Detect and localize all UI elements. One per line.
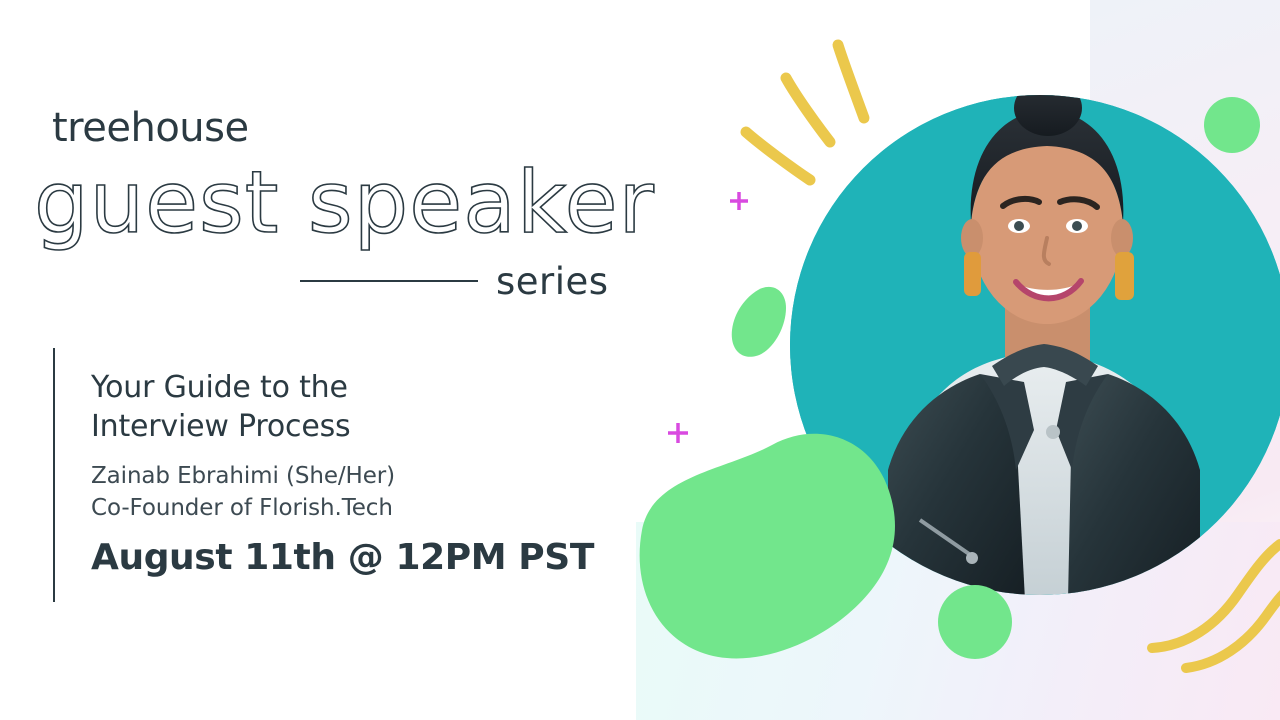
yellow-squiggles <box>1152 544 1280 668</box>
talk-title-line-1: Your Guide to the <box>91 368 611 407</box>
text-column: treehouse guest speaker series Your Guid… <box>0 0 660 720</box>
headline-outline-text: guest speaker <box>34 160 655 246</box>
talk-title-block: Your Guide to the Interview Process <box>91 368 611 446</box>
series-row: series <box>300 256 630 306</box>
magenta-plus-bottom <box>668 423 688 443</box>
artwork-composition <box>620 0 1280 720</box>
talk-title-line-2: Interview Process <box>91 407 611 446</box>
series-divider-rule <box>300 280 478 282</box>
slide-canvas: treehouse guest speaker series Your Guid… <box>0 0 1280 720</box>
speaker-name: Zainab Ebrahimi (She/Her) <box>91 461 611 493</box>
yellow-sunburst-rays <box>746 45 864 180</box>
magenta-plus-top <box>730 192 748 210</box>
brand-wordmark: treehouse <box>52 108 249 148</box>
speaker-block: Zainab Ebrahimi (She/Her) Co-Founder of … <box>91 461 611 524</box>
green-dot <box>938 585 1012 659</box>
vertical-accent-bar <box>53 348 55 602</box>
series-label: series <box>496 263 609 300</box>
green-blob-small <box>732 287 786 357</box>
speaker-role: Co-Founder of Florish.Tech <box>91 493 611 525</box>
green-dot-top <box>1204 97 1260 153</box>
talk-title: Your Guide to the Interview Process <box>91 368 611 446</box>
event-datetime: August 11th @ 12PM PST <box>91 536 594 579</box>
green-blob-large <box>640 434 895 659</box>
